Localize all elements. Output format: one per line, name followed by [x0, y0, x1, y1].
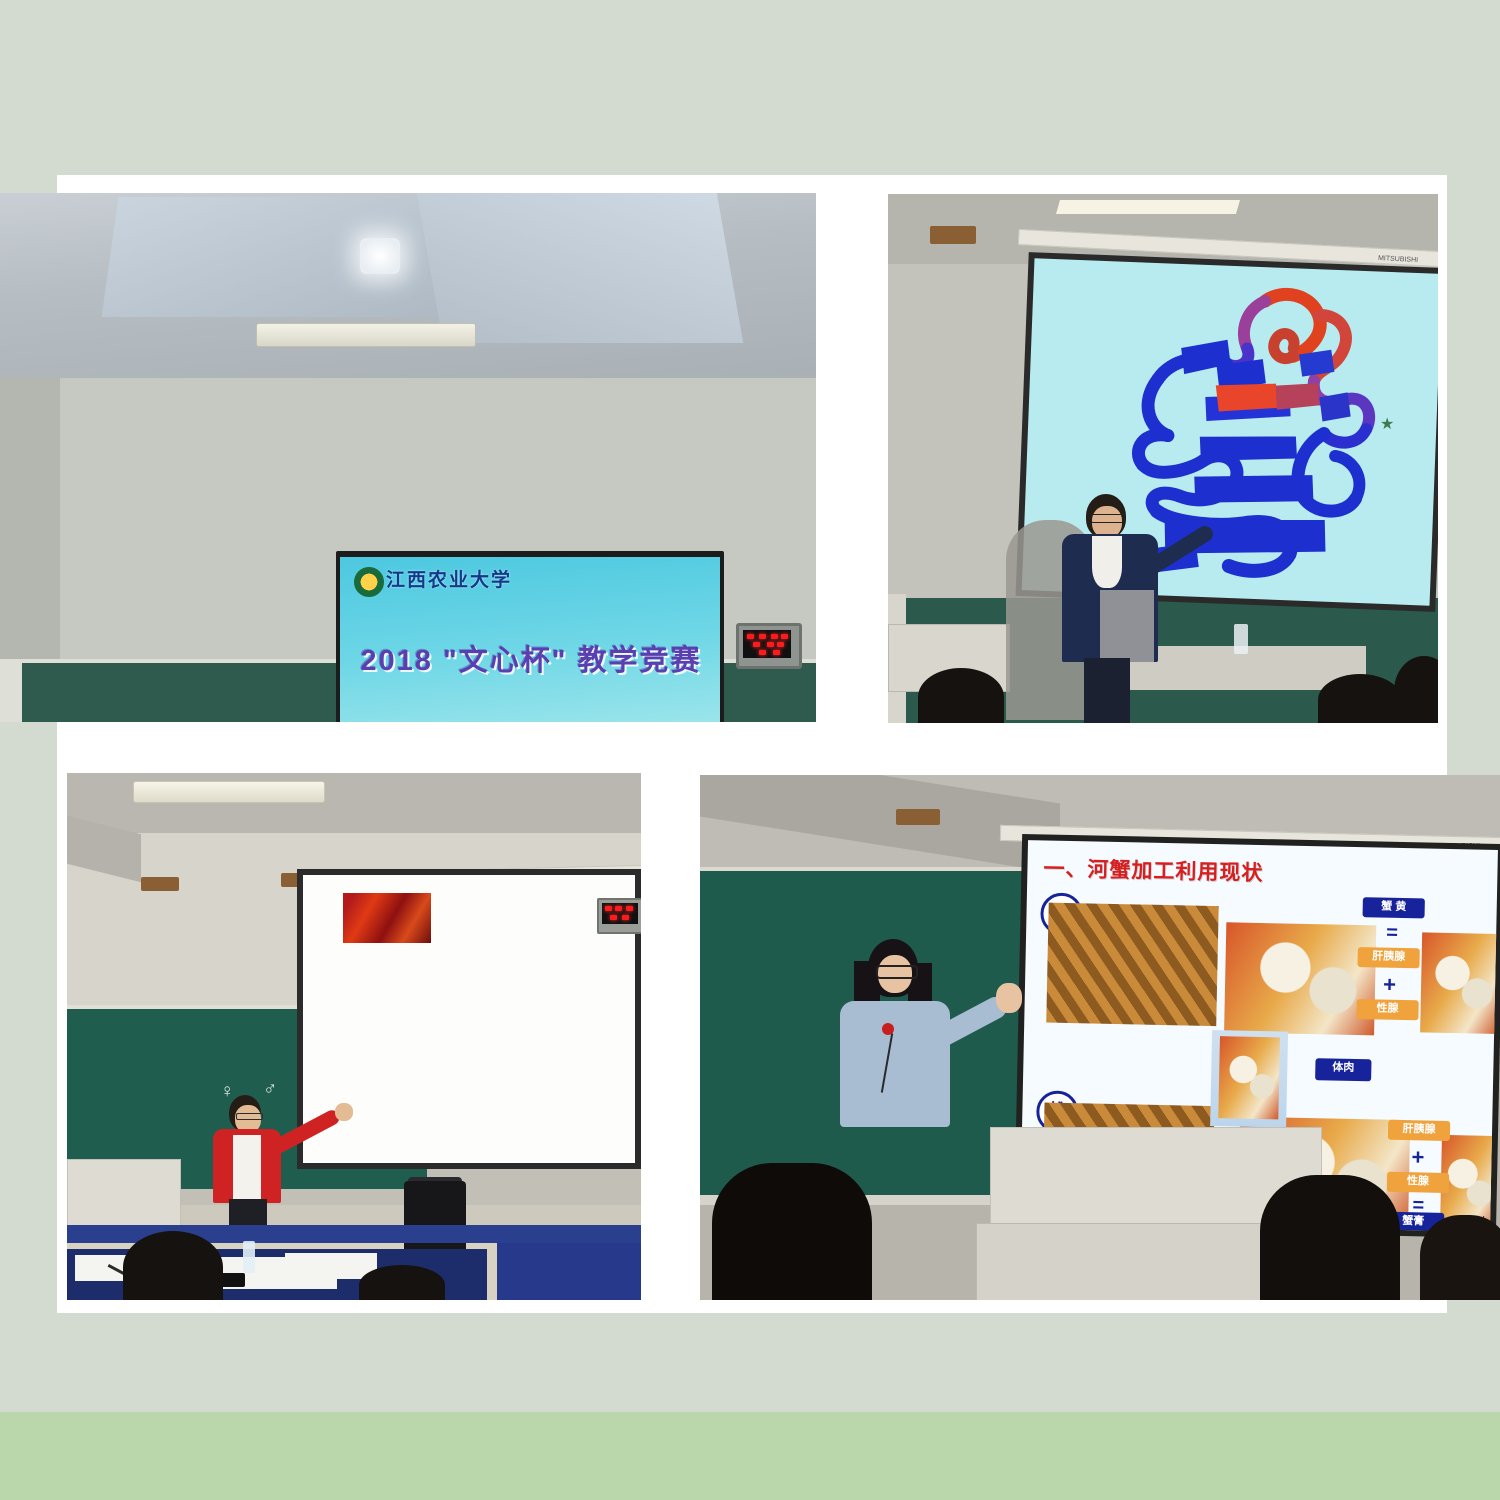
blackboard-frame-left: [0, 663, 22, 722]
smartphone: [221, 1273, 245, 1287]
lecturer-shirt: [1092, 536, 1122, 588]
wall-wood-block: [141, 877, 179, 891]
wall-wood-block: [930, 226, 976, 244]
wall-star-icon: ★: [1380, 414, 1394, 434]
equals-sign-roe: =: [1386, 922, 1396, 945]
audience-head: [1260, 1175, 1400, 1300]
glasses-icon: [876, 965, 918, 979]
audience-head: [123, 1231, 223, 1300]
lecturer-jacket-panel: [1100, 590, 1154, 662]
led-clock-face: [743, 630, 791, 658]
label-body-meat: 体肉: [1315, 1058, 1371, 1081]
university-emblem-icon: [354, 567, 384, 597]
label-hepatopancreas-male: 肝胰腺: [1388, 1120, 1450, 1141]
photo-chili-slide-presenter[interactable]: ♀ ♂: [67, 773, 641, 1300]
audience-head: [359, 1265, 445, 1300]
ceiling-light-glow: [360, 238, 400, 274]
presenter-denim-jacket: [840, 1001, 950, 1127]
plus-sign-female: +: [1383, 972, 1396, 998]
glasses-icon: [236, 1113, 263, 1120]
photo-opening-ceremony-presenter[interactable]: 江西农业大学 2018 "文心杯" 教学竞赛 食品科学与工程学院 2018年4月…: [0, 193, 816, 722]
ceiling-panel-left: [102, 197, 459, 317]
led-clock-display: [597, 898, 641, 934]
projection-screen: 江西农业大学 2018 "文心杯" 教学竞赛 食品科学与工程学院 2018年4月…: [340, 557, 720, 722]
female-crab-dissected-photo-2: [1420, 932, 1498, 1034]
presenter-figure: [820, 939, 990, 1189]
fluorescent-lamp: [133, 781, 325, 803]
audience-head: [1318, 674, 1402, 723]
projection-screen-frame: [297, 869, 641, 1169]
judge-desk-area: [67, 1213, 641, 1300]
fluorescent-lamp: [1056, 200, 1240, 214]
projection-screen: [303, 875, 635, 1163]
label-gonad-male: 性腺: [1387, 1172, 1449, 1193]
female-crab-dissected-photo: [1224, 922, 1376, 1035]
slide-chili-pepper-image: [343, 893, 431, 943]
audience-head: [712, 1163, 872, 1300]
wall-wood-block: [896, 809, 940, 825]
slide-title: 一、河蟹加工利用现状: [1043, 852, 1264, 887]
led-clock-display: [736, 623, 802, 669]
photo-crab-processing-lecture[interactable]: MITSUBISHI 一、河蟹加工利用现状 雌 雄 蟹 黄 = 肝胰腺 + 性腺…: [700, 775, 1500, 1300]
glasses-icon: [1091, 514, 1125, 523]
background-lower-band: [0, 1412, 1500, 1500]
led-clock-face: [602, 903, 638, 924]
projection-screen-frame: 江西农业大学 2018 "文心杯" 教学竞赛 食品科学与工程学院 2018年4月…: [336, 551, 724, 722]
label-crab-roe: 蟹 黄: [1363, 897, 1425, 918]
audience-head: [918, 668, 1004, 723]
presenter-hand: [335, 1103, 353, 1121]
fluorescent-lamp: [256, 323, 476, 347]
slide-university-name: 江西农业大学: [386, 565, 512, 592]
audience-head: [1420, 1215, 1500, 1300]
judge-desk: [497, 1243, 641, 1300]
water-bottle: [1234, 624, 1248, 654]
presenter-hand: [996, 983, 1022, 1013]
lecturer-trousers: [1084, 658, 1130, 723]
female-crab-photo: [1046, 903, 1218, 1027]
body-meat-crab: [1218, 1036, 1280, 1119]
wall-side-panel: [0, 378, 60, 678]
plus-sign-male: +: [1411, 1144, 1424, 1170]
label-hepatopancreas-female: 肝胰腺: [1357, 947, 1419, 968]
slide-main-title: 2018 "文心杯" 教学竞赛: [356, 637, 706, 679]
label-gonad-female: 性腺: [1356, 999, 1418, 1020]
water-bottle: [243, 1241, 255, 1273]
lecturer-figure: [1056, 494, 1166, 723]
presenter-white-top: [233, 1135, 261, 1201]
photo-protein-structure-lecture[interactable]: MITSUBISHI: [888, 194, 1438, 723]
ceiling: [0, 193, 816, 383]
ceiling-panel-right: [417, 193, 743, 343]
